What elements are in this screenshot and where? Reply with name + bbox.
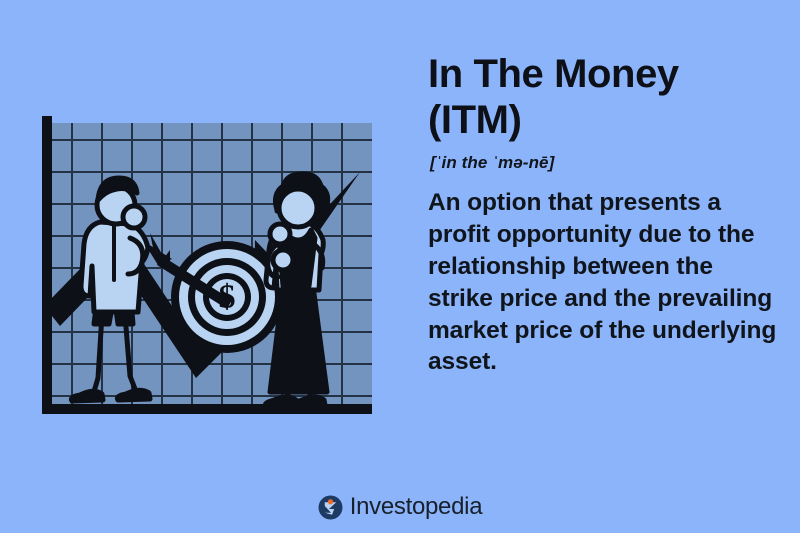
brand-name: Investopedia xyxy=(350,493,483,521)
infographic-card: $ xyxy=(0,0,800,533)
investopedia-logo-icon xyxy=(318,495,343,520)
x-axis xyxy=(42,404,372,414)
brand-footer: Investopedia xyxy=(0,493,800,521)
term-definition: An option that presents a profit opportu… xyxy=(428,187,780,378)
term-title: In The Money (ITM) xyxy=(428,52,780,143)
definition-panel: In The Money (ITM) [ˈin the ˈmə-nē] An o… xyxy=(428,52,780,378)
stock-chart-illustration: $ xyxy=(30,110,380,422)
illustration-svg: $ xyxy=(30,110,380,422)
y-axis xyxy=(42,116,52,414)
term-pronunciation: [ˈin the ˈmə-nē] xyxy=(430,153,780,173)
woman-figure-with-binoculars xyxy=(265,174,327,406)
